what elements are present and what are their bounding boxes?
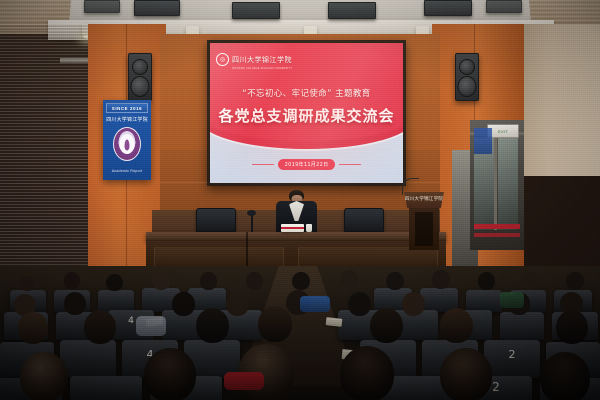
wall-speaker-right <box>455 53 479 101</box>
slide-date-row: 2019年11月22日 <box>210 159 403 170</box>
university-seal-icon: ◎ <box>216 53 229 66</box>
slide-logo-text-wrap: 四川大学锦江学院 JINJIANG COLLEGE SICHUAN UNIVER… <box>232 49 292 70</box>
audience-person <box>64 272 80 289</box>
audience-person <box>292 272 310 290</box>
banner-university-name: 四川大学锦江学院 <box>103 116 151 123</box>
audience-person <box>172 292 195 316</box>
projection-screen-surface: ◎ 四川大学锦江学院 JINJIANG COLLEGE SICHUAN UNIV… <box>210 43 403 183</box>
seat[interactable]: 2 <box>484 340 540 378</box>
slide-logo: ◎ 四川大学锦江学院 JINJIANG COLLEGE SICHUAN UNIV… <box>216 49 292 70</box>
exit-sign-label: EXIT <box>498 129 508 134</box>
ceiling-speaker-box-6 <box>486 0 522 13</box>
table-microphone-head <box>247 210 256 216</box>
slide-logo-text: 四川大学锦江学院 <box>232 56 292 64</box>
audience-person <box>556 310 588 344</box>
wall-speaker-left <box>128 53 152 101</box>
ceiling-speaker-box-2 <box>232 2 280 19</box>
water-cup <box>306 224 312 232</box>
university-emblem-icon <box>113 127 141 161</box>
projection-screen: ◎ 四川大学锦江学院 JINJIANG COLLEGE SICHUAN UNIV… <box>207 40 406 186</box>
audience-person <box>18 312 48 344</box>
audience-person <box>258 306 292 342</box>
right-acoustic-wall <box>516 24 600 176</box>
seat-number: 2 <box>492 380 500 394</box>
audience-person <box>84 310 116 344</box>
audience-red-clothing <box>224 372 264 390</box>
slide-date-badge: 2019年11月22日 <box>278 159 336 170</box>
audience-person <box>386 272 404 290</box>
table-microphone-stand <box>251 214 253 232</box>
slide-date-rule-right <box>339 164 361 165</box>
audience-green-clothing <box>500 292 524 308</box>
audience-person <box>370 308 403 343</box>
seat[interactable] <box>70 376 142 400</box>
banner-since-bar: SINCE 2016 <box>106 103 148 113</box>
banner-footer-label: Academic Report <box>103 169 151 173</box>
audience-person <box>340 270 358 289</box>
audience-person <box>402 292 425 316</box>
seat[interactable] <box>500 312 544 340</box>
seat-number: 2 <box>509 348 516 361</box>
writing-tablet <box>326 317 343 327</box>
audience-person <box>226 292 249 316</box>
lectern: 四川大学锦江学院 <box>404 180 444 250</box>
emblem-flame-icon <box>125 140 130 151</box>
ceiling-speaker-box-5 <box>84 0 120 13</box>
audience-person <box>196 308 229 343</box>
audience-person <box>432 270 450 289</box>
audience-person <box>64 292 86 315</box>
auditorium-photo: ◎ 四川大学锦江学院 JINJIANG COLLEGE SICHUAN UNIV… <box>0 0 600 400</box>
audience-person <box>348 292 371 316</box>
head-table-chair-right <box>344 208 384 232</box>
audience-person <box>200 272 217 290</box>
head-table-top <box>146 232 446 241</box>
slide-subtitle: “不忘初心、牢记使命” 主题教育 <box>210 87 403 99</box>
slide-title: 各党总支调研成果交流会 <box>210 105 403 126</box>
audience-person <box>20 276 35 291</box>
audience-person-foreground <box>540 352 590 400</box>
audience-person-foreground <box>20 352 68 400</box>
lectern-body <box>409 208 439 250</box>
ceiling-speaker-box-4 <box>424 0 472 16</box>
seat[interactable] <box>60 340 116 378</box>
seat[interactable] <box>466 290 502 312</box>
audience-person-foreground <box>440 348 492 400</box>
audience-person <box>440 308 473 343</box>
ceiling-speaker-box-1 <box>134 0 180 16</box>
audience-blue-clothing <box>300 296 330 312</box>
audience-grey-clothing <box>136 316 166 336</box>
wall-blue-poster <box>474 128 492 154</box>
ceiling-speaker-box-3 <box>328 2 376 19</box>
banner-since-label: SINCE 2016 <box>112 106 142 111</box>
audience-person <box>152 272 170 290</box>
lectern-nameplate: 四川大学锦江学院 <box>404 196 444 202</box>
side-banner: SINCE 2016 四川大学锦江学院 Academic Report <box>103 100 151 180</box>
head-table-chair-left <box>196 208 236 232</box>
audience-person <box>246 272 263 290</box>
audience-person-foreground <box>340 346 394 400</box>
speaker-microphone-stand <box>314 216 315 232</box>
audience-person <box>478 272 495 290</box>
slide-logo-subtext: JINJIANG COLLEGE SICHUAN UNIVERSITY <box>232 67 292 70</box>
speaker-nameplate <box>281 224 304 232</box>
audience-person-foreground <box>144 348 196 400</box>
seat[interactable] <box>98 290 134 312</box>
audience-person <box>522 272 539 290</box>
audience-person <box>106 274 123 291</box>
slide-date-rule-left <box>252 164 274 165</box>
seat-number: 4 <box>128 316 134 326</box>
audience-person <box>566 272 584 290</box>
left-acoustic-wall <box>0 24 96 294</box>
